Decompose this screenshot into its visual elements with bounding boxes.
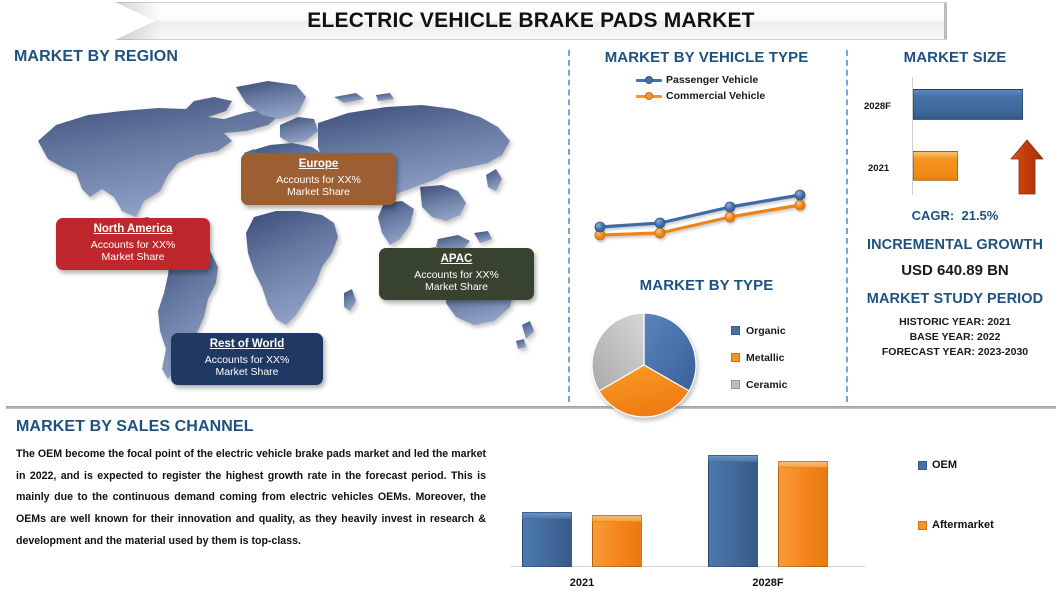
market-size-bar-chart: 2028F 2021 [858,77,1054,197]
legend-swatch-icon [731,380,740,389]
region-label-title: Europe [251,158,386,172]
market-study-period-heading: MARKET STUDY PERIOD [848,291,1062,307]
period-forecast-year: FORECAST YEAR: 2023-2030 [848,345,1062,360]
bar-market-size-2028f [913,89,1023,120]
legend-item-passenger-vehicle[interactable]: Passenger Vehicle [636,74,765,86]
cagr-value: 21.5% [961,208,998,223]
sales-channel-paragraph: The OEM become the focal point of the el… [16,444,486,553]
bar-aftermarket-2028f [778,461,828,567]
series-commercial-vehicle-line [600,205,800,235]
line-series-group [595,190,805,240]
middle-column: MARKET BY VEHICLE TYPE Passenger Vehicle… [568,45,845,405]
region-label-line1: Accounts for XX% [66,239,200,251]
legend-item-metallic[interactable]: Metallic [731,344,787,371]
region-label-line1: Accounts for XX% [181,354,313,366]
right-column: MARKET SIZE 2028F 2021 CAGR: 21.5% [848,45,1062,405]
axis-tick-2021: 2021 [868,163,889,174]
market-study-period-lines: HISTORIC YEAR: 2021 BASE YEAR: 2022 FORE… [848,315,1062,361]
pie-slices [592,313,696,417]
region-label-rest-of-world[interactable]: Rest of World Accounts for XX% Market Sh… [171,333,323,385]
bar-oem-2028f [708,455,758,567]
region-label-line1: Accounts for XX% [389,269,524,281]
legend-swatch-icon [731,326,740,335]
region-label-line2: Market Share [66,251,200,263]
region-label-north-america[interactable]: North America Accounts for XX% Market Sh… [56,218,210,270]
region-label-line1: Accounts for XX% [251,174,386,186]
vehicle-type-legend: Passenger Vehicle Commercial Vehicle [636,74,765,102]
region-label-line2: Market Share [389,281,524,293]
bar-market-size-2021 [913,151,958,181]
bar-aftermarket-2021 [592,515,642,567]
legend-item-aftermarket[interactable]: Aftermarket [918,519,994,531]
market-by-sales-channel-panel: MARKET BY SALES CHANNEL The OEM become t… [0,407,1062,597]
period-historic-year: HISTORIC YEAR: 2021 [848,315,1062,330]
legend-item-commercial-vehicle[interactable]: Commercial Vehicle [636,90,765,102]
legend-item-organic[interactable]: Organic [731,317,787,344]
market-by-sales-channel-heading: MARKET BY SALES CHANNEL [16,418,254,436]
incremental-growth-heading: INCREMENTAL GROWTH [848,237,1062,253]
up-arrow-icon [1010,139,1044,195]
period-base-year: BASE YEAR: 2022 [848,330,1062,345]
market-by-type-heading: MARKET BY TYPE [568,277,845,294]
region-label-title: APAC [389,253,524,267]
bar-cap [778,461,828,468]
vehicle-type-line-chart [588,155,838,250]
market-by-region-heading: MARKET BY REGION [14,48,178,66]
category-label-2021: 2021 [542,577,622,589]
region-label-apac[interactable]: APAC Accounts for XX% Market Share [379,248,534,300]
market-by-region-panel: MARKET BY REGION [0,45,560,405]
legend-swatch-icon [918,521,927,530]
bar-cap [708,455,758,462]
legend-label: Passenger Vehicle [666,74,758,86]
bar-cap [592,515,642,522]
cagr-label: CAGR: [912,208,955,223]
legend-label: Organic [746,325,786,337]
sales-channel-bar-chart: 2021 2028F [510,429,890,589]
legend-label: OEM [932,459,957,471]
legend-swatch-icon [731,353,740,362]
incremental-growth-value: USD 640.89 BN [848,262,1062,279]
market-size-heading: MARKET SIZE [848,49,1062,66]
bar-oem-2021 [522,512,572,567]
legend-label: Aftermarket [932,519,994,531]
legend-item-oem[interactable]: OEM [918,459,994,471]
legend-swatch-icon [918,461,927,470]
market-by-vehicle-type-heading: MARKET BY VEHICLE TYPE [568,49,845,66]
sales-channel-legend: OEM Aftermarket [918,459,994,531]
legend-label: Ceramic [746,379,787,391]
legend-label: Commercial Vehicle [666,90,765,102]
cagr-row: CAGR: 21.5% [848,208,1062,223]
page-title: ELECTRIC VEHICLE BRAKE PADS MARKET [115,2,947,40]
region-label-line2: Market Share [251,186,386,198]
legend-item-ceramic[interactable]: Ceramic [731,371,787,398]
market-by-type-legend: Organic Metallic Ceramic [731,317,787,398]
title-banner: ELECTRIC VEHICLE BRAKE PADS MARKET [0,0,1062,44]
region-label-europe[interactable]: Europe Accounts for XX% Market Share [241,153,396,205]
legend-label: Metallic [746,352,785,364]
region-label-title: Rest of World [181,338,313,352]
region-label-title: North America [66,223,200,237]
region-label-line2: Market Share [181,366,313,378]
axis-tick-2028f: 2028F [864,101,891,112]
bar-cap [522,512,572,519]
category-label-2028f: 2028F [728,577,808,589]
infographic-root: ELECTRIC VEHICLE BRAKE PADS MARKET MARKE… [0,0,1062,597]
